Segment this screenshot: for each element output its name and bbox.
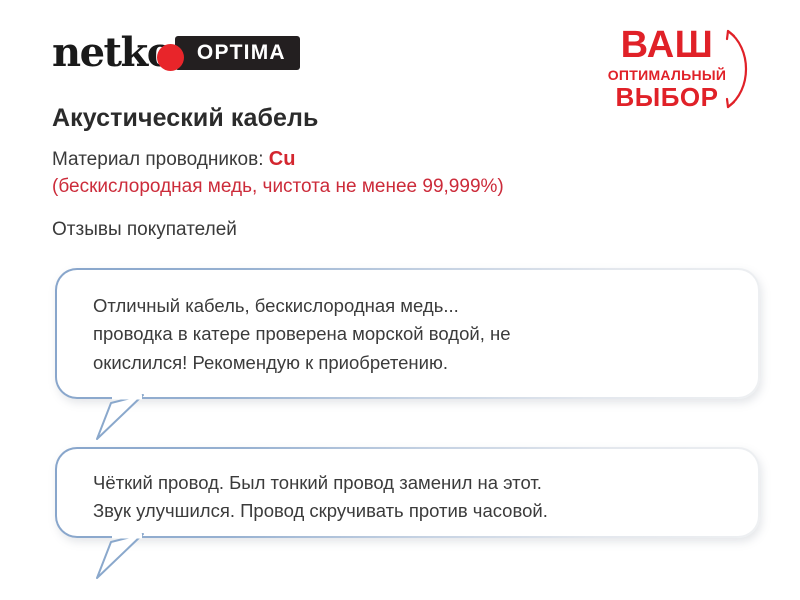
bubble-tail-icon [95,533,161,579]
seal-line-2: ОПТИМАЛЬНЫЙ [602,68,732,82]
optima-badge-label: OPTIMA [197,41,286,65]
seal-text-block: ВАШ ОПТИМАЛЬНЫЙ ВЫБОР [602,26,732,110]
red-dot-icon [157,44,184,71]
promo-page: netko OPTIMA ВАШ ОПТИМАЛЬНЫЙ ВЫБОР Акуст… [0,0,800,600]
brand-name: netko [52,33,172,73]
seal-line-1: ВАШ [602,26,732,64]
optima-badge: OPTIMA [175,36,300,70]
material-line: Материал проводников: Cu [52,148,295,171]
bubble-tail-icon [95,394,161,440]
material-label: Материал проводников: [52,149,263,170]
page-title: Акустический кабель [52,104,318,133]
material-value: Cu [269,148,296,170]
review-bubble: Отличный кабель, бескислородная медь... … [55,268,760,399]
page-header: netko OPTIMA ВАШ ОПТИМАЛЬНЫЙ ВЫБОР [0,0,800,120]
review-text: Отличный кабель, бескислородная медь... … [93,292,743,377]
review-bubble: Чёткий провод. Был тонкий провод заменил… [55,447,760,538]
arc-bracket-icon [722,26,762,112]
reviews-heading: Отзывы покупателей [52,219,237,241]
review-text: Чёткий провод. Был тонкий провод заменил… [93,469,748,526]
seal-line-3: ВЫБОР [602,84,732,110]
brand-logo: netko OPTIMA [52,30,300,76]
material-note: (бескислородная медь, чистота не менее 9… [52,176,504,198]
best-choice-seal: ВАШ ОПТИМАЛЬНЫЙ ВЫБОР [602,26,762,112]
